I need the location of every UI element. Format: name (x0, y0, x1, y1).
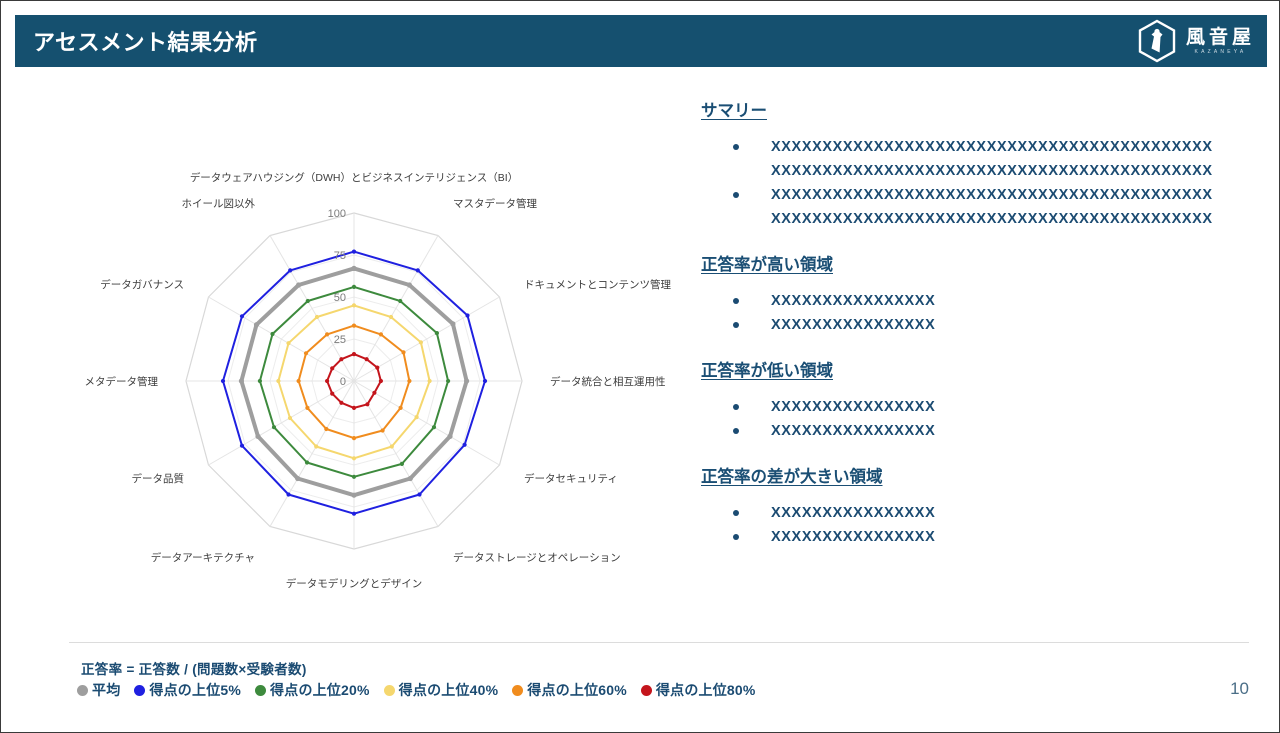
legend-label: 得点の上位80% (656, 680, 756, 700)
list-item: XXXXXXXXXXXXXXXX (729, 419, 1246, 443)
gap-bullet-list: XXXXXXXXXXXXXXXX XXXXXXXXXXXXXXXX (701, 501, 1246, 549)
legend-label: 得点の上位40% (399, 680, 499, 700)
bullet-line: XXXXXXXXXXXXXXXX (771, 313, 1246, 337)
list-item: XXXXXXXXXXXXXXXX (729, 395, 1246, 419)
section-heading-gap: 正答率の差が大きい領域 (701, 463, 883, 487)
bullet-line: XXXXXXXXXXXXXXXXXXXXXXXXXXXXXXXXXXXXXXXX… (771, 135, 1246, 159)
bullet-line: XXXXXXXXXXXXXXXXXXXXXXXXXXXXXXXXXXXXXXXX… (771, 159, 1246, 183)
legend-item[interactable]: 得点の上位5% (134, 680, 241, 700)
slide: アセスメント結果分析 風音屋 KAZANEYA 0255075100データウェア… (0, 0, 1280, 733)
radar-chart: 0255075100データウェアハウジング（DWH）とビジネスインテリジェンス（… (61, 81, 681, 641)
brand-name-jp: 風音屋 (1186, 28, 1255, 47)
radar-chart-svg: 0255075100データウェアハウジング（DWH）とビジネスインテリジェンス（… (61, 81, 681, 641)
legend-color-swatch (512, 685, 523, 696)
radial-tick-label: 25 (334, 334, 346, 346)
summary-section: サマリー XXXXXXXXXXXXXXXXXXXXXXXXXXXXXXXXXXX… (701, 97, 1246, 231)
radar-axis-label: データウェアハウジング（DWH）とビジネスインテリジェンス（BI） (190, 171, 518, 184)
list-item: XXXXXXXXXXXXXXXX (729, 289, 1246, 313)
summary-panel: サマリー XXXXXXXXXXXXXXXXXXXXXXXXXXXXXXXXXXX… (701, 97, 1246, 569)
page-title: アセスメント結果分析 (33, 25, 258, 57)
section-heading-low: 正答率が低い領域 (701, 357, 833, 381)
legend-color-swatch (641, 685, 652, 696)
radar-axis-label: データガバナンス (100, 278, 184, 291)
summary-bullet-list: XXXXXXXXXXXXXXXXXXXXXXXXXXXXXXXXXXXXXXXX… (701, 135, 1246, 231)
kazaneya-hexagon-icon (1137, 19, 1177, 63)
bullet-line: XXXXXXXXXXXXXXXX (771, 525, 1246, 549)
section-heading-summary: サマリー (701, 97, 767, 121)
radar-axis-label: ホイール図以外 (182, 198, 256, 210)
legend-color-swatch (77, 685, 88, 696)
radar-axis-label: ドキュメントとコンテンツ管理 (524, 278, 671, 291)
low-score-section: 正答率が低い領域 XXXXXXXXXXXXXXXX XXXXXXXXXXXXXX… (701, 357, 1246, 443)
section-heading-high: 正答率が高い領域 (701, 251, 833, 275)
legend-color-swatch (255, 685, 266, 696)
formula-note: 正答率 = 正答数 / (問題数×受験者数) (81, 658, 307, 678)
radar-axis-label: データ品質 (132, 472, 185, 485)
list-item: XXXXXXXXXXXXXXXXXXXXXXXXXXXXXXXXXXXXXXXX… (729, 135, 1246, 183)
brand-wordmark: 風音屋 KAZANEYA (1186, 28, 1255, 55)
radial-tick-label: 0 (340, 376, 346, 388)
page-number: 10 (1230, 679, 1249, 699)
legend-label: 得点の上位5% (149, 680, 241, 700)
radar-axis-label: データ統合と相互運用性 (550, 375, 666, 388)
legend-item[interactable]: 得点の上位60% (512, 680, 627, 700)
radial-tick-label: 50 (334, 292, 346, 304)
brand-name-en: KAZANEYA (1195, 50, 1247, 55)
radar-axis-label: データストレージとオペレーション (453, 551, 621, 564)
radar-axis-label: データモデリングとデザイン (286, 577, 423, 590)
bullet-line: XXXXXXXXXXXXXXXX (771, 419, 1246, 443)
legend-item[interactable]: 得点の上位20% (255, 680, 370, 700)
legend-label: 平均 (92, 680, 120, 700)
radial-tick-label: 100 (328, 208, 346, 220)
brand-logo: 風音屋 KAZANEYA (1137, 19, 1255, 63)
legend-color-swatch (134, 685, 145, 696)
legend-label: 得点の上位20% (270, 680, 370, 700)
low-score-bullet-list: XXXXXXXXXXXXXXXX XXXXXXXXXXXXXXXX (701, 395, 1246, 443)
legend-label: 得点の上位60% (527, 680, 627, 700)
legend-color-swatch (384, 685, 395, 696)
list-item: XXXXXXXXXXXXXXXX (729, 313, 1246, 337)
radar-axis-label: データセキュリティ (524, 472, 618, 485)
bullet-line: XXXXXXXXXXXXXXXX (771, 395, 1246, 419)
footer-divider (69, 642, 1249, 643)
radar-axis-label: メタデータ管理 (85, 375, 159, 388)
legend-item[interactable]: 平均 (77, 680, 120, 700)
bullet-line: XXXXXXXXXXXXXXXX (771, 501, 1246, 525)
list-item: XXXXXXXXXXXXXXXX (729, 501, 1246, 525)
gap-section: 正答率の差が大きい領域 XXXXXXXXXXXXXXXX XXXXXXXXXXX… (701, 463, 1246, 549)
legend-item[interactable]: 得点の上位40% (384, 680, 499, 700)
radar-axis-label: マスタデータ管理 (453, 197, 537, 210)
list-item: XXXXXXXXXXXXXXXX (729, 525, 1246, 549)
high-score-section: 正答率が高い領域 XXXXXXXXXXXXXXXX XXXXXXXXXXXXXX… (701, 251, 1246, 337)
bullet-line: XXXXXXXXXXXXXXXX (771, 289, 1246, 313)
bullet-line: XXXXXXXXXXXXXXXXXXXXXXXXXXXXXXXXXXXXXXXX… (771, 207, 1246, 231)
radial-tick-label: 75 (334, 250, 346, 262)
bullet-line: XXXXXXXXXXXXXXXXXXXXXXXXXXXXXXXXXXXXXXXX… (771, 183, 1246, 207)
high-score-bullet-list: XXXXXXXXXXXXXXXX XXXXXXXXXXXXXXXX (701, 289, 1246, 337)
list-item: XXXXXXXXXXXXXXXXXXXXXXXXXXXXXXXXXXXXXXXX… (729, 183, 1246, 231)
chart-legend: 平均得点の上位5%得点の上位20%得点の上位40%得点の上位60%得点の上位80… (77, 680, 756, 700)
slide-header: アセスメント結果分析 風音屋 KAZANEYA (15, 15, 1267, 67)
radar-axis-label: データアーキテクチャ (151, 551, 255, 564)
legend-item[interactable]: 得点の上位80% (641, 680, 756, 700)
